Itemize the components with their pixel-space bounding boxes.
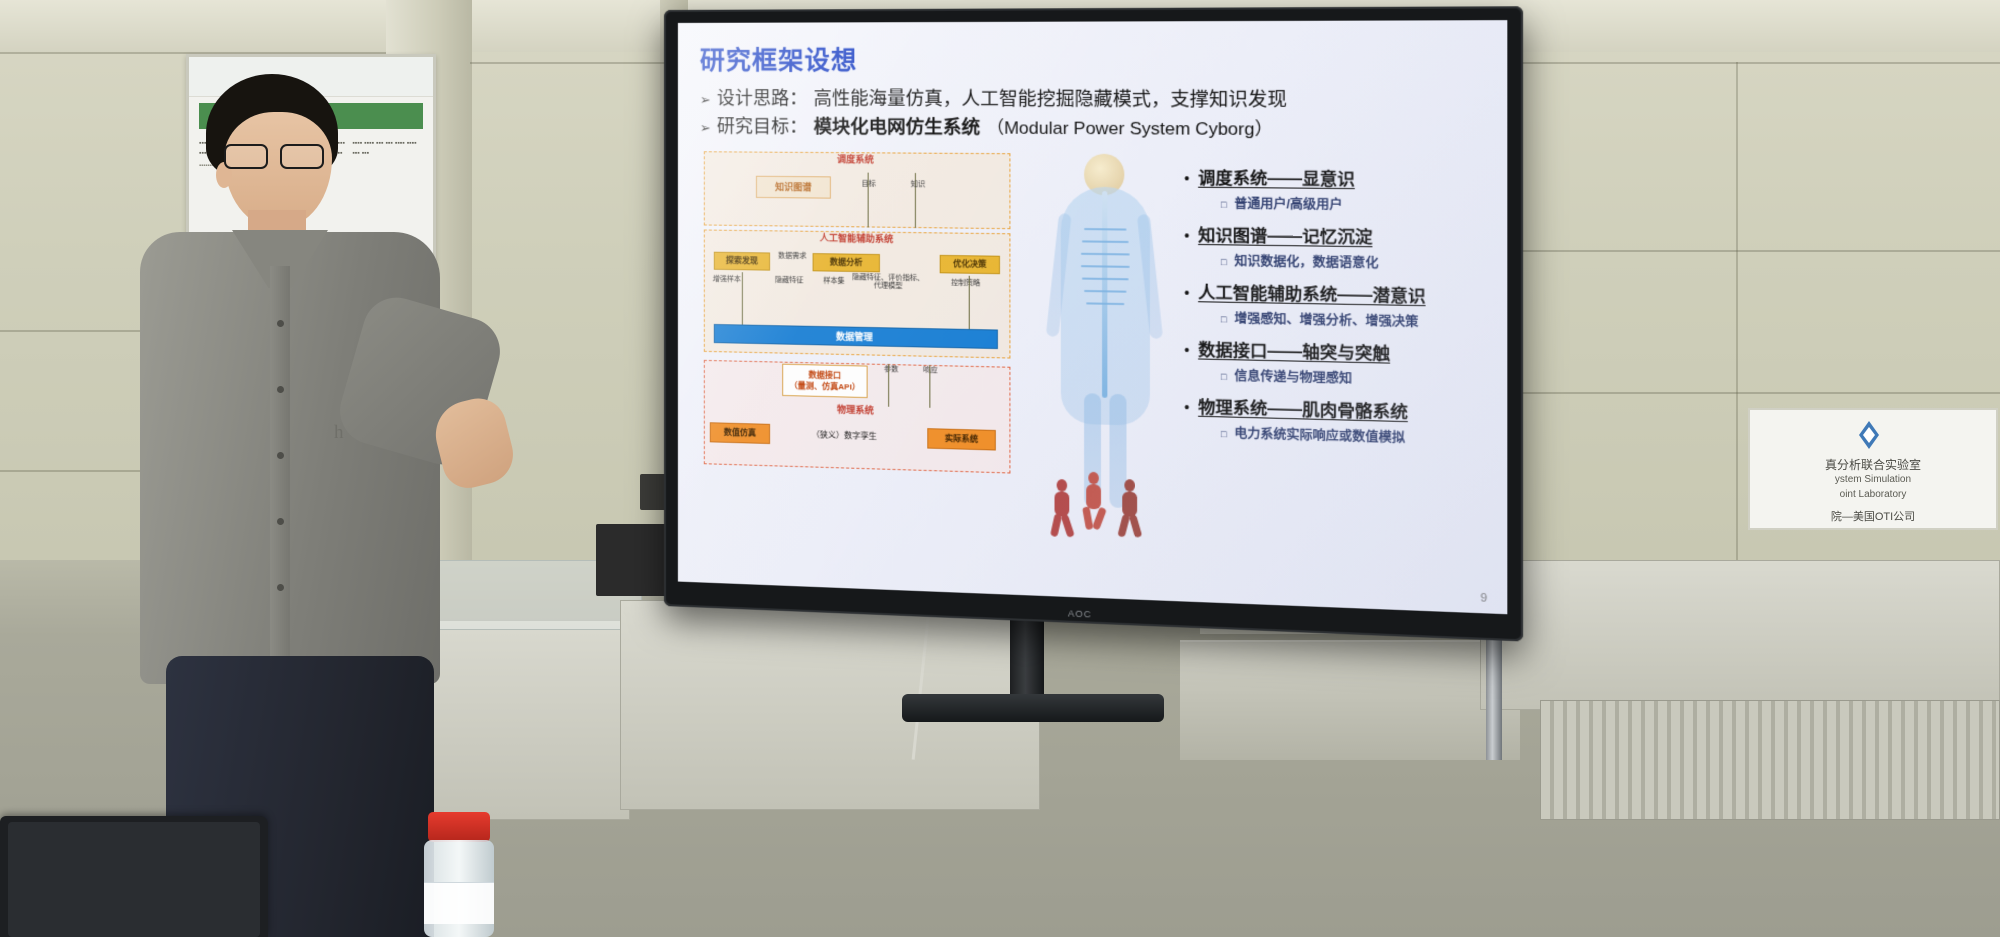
diagram-box-numerical-sim: 数值仿真 [710, 422, 770, 444]
list-subitem: □ 普通用户/高级用户 [1221, 194, 1485, 215]
diagram-edge-label-hidden-eval: 隐藏特征、评价指标、代理模型 [851, 274, 925, 291]
list-item-title: 数据接口——轴突与突触 [1198, 336, 1390, 365]
laptop-lid [8, 822, 260, 937]
bullet-1-label: 设计思路： [717, 85, 808, 111]
diagram-box-explore: 探索发现 [714, 252, 770, 271]
bottle-label [424, 882, 494, 924]
diagram-group-dispatch-label: 调度系统 [804, 155, 906, 164]
diagram-box-real-system: 实际系统 [927, 428, 996, 450]
sign-line-3: oint Laboratory [1750, 489, 1996, 500]
diagram-box-data-analysis: 数据分析 [813, 253, 880, 272]
runner-figure [1114, 479, 1146, 538]
square-bullet-icon: □ [1221, 199, 1227, 209]
list-item: • 知识图谱——记忆沉淀 [1184, 221, 1485, 250]
bullet-2-suffix: （Modular Power System Cyborg） [986, 115, 1273, 143]
architecture-diagram: 调度系统 知识图谱 目标 知识 人工智能辅助系统 探索发现 数据分析 优化决策 … [700, 147, 1038, 581]
wall-seam [1480, 250, 2000, 252]
glasses-lens-right [280, 144, 324, 169]
wall-sign: 真分析联合实验室 ystem Simulation oint Laborator… [1748, 408, 1998, 530]
sign-line-2: ystem Simulation [1750, 474, 1996, 485]
display-brand-label: AOC [1068, 608, 1092, 619]
sign-line-4: 院—美国OTI公司 [1750, 508, 1996, 524]
shirt-placket [270, 266, 290, 676]
list-subitem-text: 增强感知、增强分析、增强决策 [1234, 309, 1418, 330]
diagram-edge [742, 272, 743, 324]
diagram-edge-label-control-strategy: 控制策略 [948, 280, 983, 289]
diagram-box-knowledge-graph: 知识图谱 [756, 176, 831, 199]
diagram-box-data-interface: 数据接口 （量测、仿真API） [782, 364, 867, 398]
display-stand-base [902, 694, 1164, 722]
slide-body: 调度系统 知识图谱 目标 知识 人工智能辅助系统 探索发现 数据分析 优化决策 … [700, 147, 1485, 598]
list-item: • 数据接口——轴突与突触 [1184, 335, 1485, 366]
bullet-dot-icon: • [1184, 285, 1189, 300]
diagram-edge [888, 364, 889, 407]
shirt-button [277, 584, 284, 591]
list-subitem-text: 知识数据化，数据语意化 [1234, 252, 1378, 272]
shirt-button [277, 518, 284, 525]
square-bullet-icon: □ [1221, 371, 1227, 382]
shirt-button [277, 386, 284, 393]
bullet-dot-icon: • [1184, 228, 1189, 243]
presentation-slide: 研究框架设想 ➢ 设计思路： 高性能海量仿真，人工智能挖掘隐藏模式，支撑知识发现… [678, 20, 1507, 614]
diagram-box-digital-twin: （狭义）数字孪生 [788, 424, 900, 447]
presenter-glasses [224, 144, 344, 170]
list-subitem: □ 知识数据化，数据语意化 [1221, 252, 1485, 274]
water-bottle [418, 812, 500, 937]
bullet-2-label: 研究目标： [717, 113, 808, 140]
wall-seam-vertical [1736, 62, 1738, 582]
list-subitem: □ 电力系统实际响应或数值模拟 [1221, 424, 1485, 449]
radiator [1540, 700, 2000, 820]
sign-line-1: 真分析联合实验室 [1750, 456, 1996, 473]
diagram-edge [969, 276, 970, 329]
list-item-title: 调度系统——显意识 [1198, 164, 1355, 190]
bullet-dot-icon: • [1184, 400, 1189, 415]
shirt-button [277, 452, 284, 459]
wall-display[interactable]: AOC 研究框架设想 ➢ 设计思路： 高性能海量仿真，人工智能挖掘隐藏模式，支撑… [664, 6, 1523, 641]
human-nervous-system-illustration [1038, 149, 1178, 586]
bottle-cap [428, 812, 490, 842]
slide-title: 研究框架设想 [700, 39, 1485, 77]
runner-figure [1078, 471, 1110, 530]
etap-logo-icon [1846, 418, 1892, 452]
list-item: • 人工智能辅助系统——潜意识 [1184, 278, 1485, 308]
square-bullet-icon: □ [1221, 429, 1227, 440]
diagram-edge-label-parameters: 参数 [878, 366, 905, 375]
diagram-edge-label-augment: 增强样本 [710, 276, 744, 285]
bullet-2-text: 模块化电网仿生系统 [813, 114, 980, 141]
wall-seam [1480, 392, 2000, 394]
list-item-title: 物理系统——肌肉骨骼系统 [1198, 393, 1408, 423]
cubicle-partition [1480, 560, 2000, 710]
bullet-arrow-icon: ➢ [700, 87, 711, 113]
list-item-title: 知识图谱——记忆沉淀 [1198, 221, 1372, 248]
laptop[interactable] [0, 816, 268, 937]
figure-spine [1102, 191, 1107, 398]
slide-bullet-1: ➢ 设计思路： 高性能海量仿真，人工智能挖掘隐藏模式，支撑知识发现 [700, 85, 1485, 116]
list-subitem-text: 电力系统实际响应或数值模拟 [1234, 424, 1405, 446]
glasses-lens-left [224, 144, 268, 169]
display-screen[interactable]: 研究框架设想 ➢ 设计思路： 高性能海量仿真，人工智能挖掘隐藏模式，支撑知识发现… [678, 20, 1507, 614]
list-item-title: 人工智能辅助系统——潜意识 [1198, 278, 1425, 307]
diagram-edge-label-hidden-feature: 隐藏特征 [772, 277, 806, 286]
list-subitem: □ 增强感知、增强分析、增强决策 [1221, 309, 1485, 332]
bullet-arrow-icon: ➢ [700, 115, 711, 141]
slide-bullet-2: ➢ 研究目标： 模块化电网仿生系统 （Modular Power System … [700, 113, 1485, 146]
diagram-edge-label-data-need: 数据需求 [772, 253, 812, 262]
shirt-button [277, 320, 284, 327]
presenter: h [120, 70, 480, 937]
square-bullet-icon: □ [1221, 314, 1227, 325]
diagram-box-optimize: 优化决策 [940, 255, 1000, 274]
bullet-1-text: 高性能海量仿真，人工智能挖掘隐藏模式，支撑知识发现 [813, 85, 1286, 113]
screenshot-scene: ▪▪▪▪▪ ▪▪▪▪ ▪▪▪▪▪▪ ▪▪▪ ▪▪▪▪▪ ▪▪▪▪ ▪▪▪ ▪▪▪… [0, 0, 2000, 937]
diagram-edge-label-knowledge: 知识 [900, 181, 935, 189]
diagram-edge-label-goal: 目标 [851, 181, 886, 189]
office-desk [1180, 640, 1520, 760]
bullet-dot-icon: • [1184, 343, 1189, 358]
list-subitem-text: 普通用户/高级用户 [1234, 194, 1342, 213]
slide-page-number: 9 [1480, 592, 1487, 605]
list-subitem: □ 信息传递与物理感知 [1221, 366, 1485, 390]
diagram-edge [929, 365, 930, 408]
list-subitem-text: 信息传递与物理感知 [1234, 367, 1352, 387]
square-bullet-icon: □ [1221, 257, 1227, 268]
concept-mapping-list: • 调度系统——显意识 □ 普通用户/高级用户 • 知识图谱——记忆沉淀 [1178, 150, 1485, 598]
list-item: • 物理系统——肌肉骨骼系统 [1184, 392, 1485, 425]
diagram-edge-label-sample-set: 样本集 [823, 278, 845, 286]
bullet-dot-icon: • [1184, 171, 1189, 186]
list-item: • 调度系统——显意识 [1184, 164, 1485, 192]
runner-figure [1046, 479, 1078, 538]
